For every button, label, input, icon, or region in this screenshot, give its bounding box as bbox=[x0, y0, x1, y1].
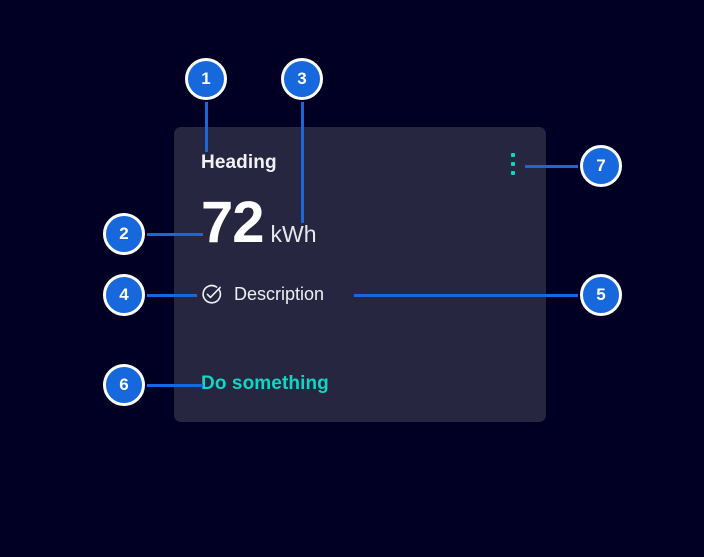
check-circle-icon bbox=[200, 283, 223, 306]
metric-card[interactable]: Heading 72 kWh Description Do something bbox=[174, 127, 546, 422]
leader-line-3 bbox=[301, 100, 304, 223]
kebab-dot-2 bbox=[511, 162, 515, 166]
description-text: Description bbox=[234, 284, 324, 305]
description-row: Description bbox=[200, 283, 324, 306]
callout-badge-6[interactable]: 6 bbox=[103, 364, 145, 406]
callout-badge-1[interactable]: 1 bbox=[185, 58, 227, 100]
callout-badge-2[interactable]: 2 bbox=[103, 213, 145, 255]
metric-unit: kWh bbox=[271, 223, 317, 246]
callout-badge-4[interactable]: 4 bbox=[103, 274, 145, 316]
leader-line-1 bbox=[205, 100, 208, 152]
callout-badge-3[interactable]: 3 bbox=[281, 58, 323, 100]
action-link[interactable]: Do something bbox=[201, 373, 329, 395]
callout-badge-2-label: 2 bbox=[119, 224, 128, 244]
kebab-menu-icon[interactable] bbox=[504, 151, 522, 177]
kebab-dot-3 bbox=[511, 171, 515, 175]
leader-line-7 bbox=[525, 165, 580, 168]
card-heading: Heading bbox=[201, 152, 277, 174]
callout-badge-7[interactable]: 7 bbox=[580, 145, 622, 187]
callout-badge-1-label: 1 bbox=[201, 69, 210, 89]
kebab-dot-1 bbox=[511, 153, 515, 157]
callout-badge-7-label: 7 bbox=[596, 156, 605, 176]
metric-value: 72 bbox=[201, 199, 264, 247]
leader-line-4 bbox=[145, 294, 197, 297]
callout-badge-4-label: 4 bbox=[119, 285, 128, 305]
leader-line-2 bbox=[145, 233, 203, 236]
callout-badge-5-label: 5 bbox=[596, 285, 605, 305]
leader-line-5 bbox=[354, 294, 579, 297]
callout-badge-6-label: 6 bbox=[119, 375, 128, 395]
leader-line-6 bbox=[145, 384, 203, 387]
callout-badge-5[interactable]: 5 bbox=[580, 274, 622, 316]
callout-badge-3-label: 3 bbox=[297, 69, 306, 89]
metric-row: 72 kWh bbox=[201, 199, 317, 247]
annotated-card-diagram: Heading 72 kWh Description Do something … bbox=[0, 0, 704, 557]
